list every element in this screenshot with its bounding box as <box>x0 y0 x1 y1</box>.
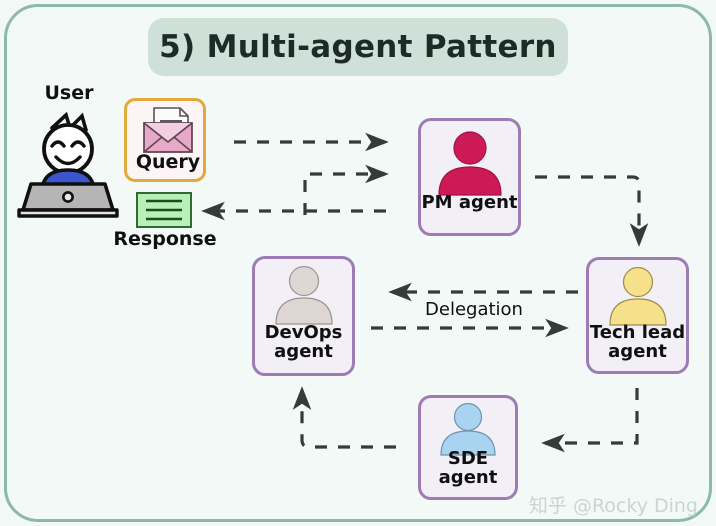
user-group: User <box>14 84 124 218</box>
agent-label-sde-line2: agent <box>439 467 498 488</box>
agent-label-tech-lead-line2: agent <box>608 341 667 362</box>
query-card[interactable]: Query <box>124 98 206 182</box>
watermark: 知乎 @Rocky Ding <box>529 491 698 518</box>
agent-label-devops-line2: agent <box>274 341 333 362</box>
diagram-canvas: 5) Multi-agent Pattern <box>0 0 716 526</box>
person-icon-pm <box>433 131 507 197</box>
envelope-with-document-icon <box>137 106 199 156</box>
response-document-icon[interactable] <box>136 192 192 228</box>
user-label: User <box>14 84 124 104</box>
query-label: Query <box>127 153 209 173</box>
edge-label-delegation: Delegation <box>404 299 544 320</box>
agent-label-sde: SDE agent <box>421 450 515 488</box>
agent-card-pm[interactable]: PM agent <box>418 118 521 236</box>
agent-label-tech-lead-line1: Tech lead <box>590 322 685 343</box>
response-lines-icon <box>138 194 190 226</box>
agent-label-sde-line1: SDE <box>448 448 488 469</box>
agent-card-devops[interactable]: DevOps agent <box>252 256 355 376</box>
page-title: 5) Multi-agent Pattern <box>159 29 557 65</box>
agent-label-tech-lead: Tech lead agent <box>589 324 686 362</box>
title-banner: 5) Multi-agent Pattern <box>148 18 568 76</box>
user-stick-figure-icon <box>14 106 122 218</box>
agent-card-sde[interactable]: SDE agent <box>418 395 518 500</box>
person-icon-devops <box>269 266 339 326</box>
agent-label-pm: PM agent <box>421 194 518 213</box>
person-icon-tech-lead <box>603 267 673 327</box>
agent-label-devops: DevOps agent <box>255 324 352 362</box>
agent-card-tech-lead[interactable]: Tech lead agent <box>586 257 689 374</box>
response-label: Response <box>106 230 224 250</box>
agent-label-devops-line1: DevOps <box>265 322 343 343</box>
